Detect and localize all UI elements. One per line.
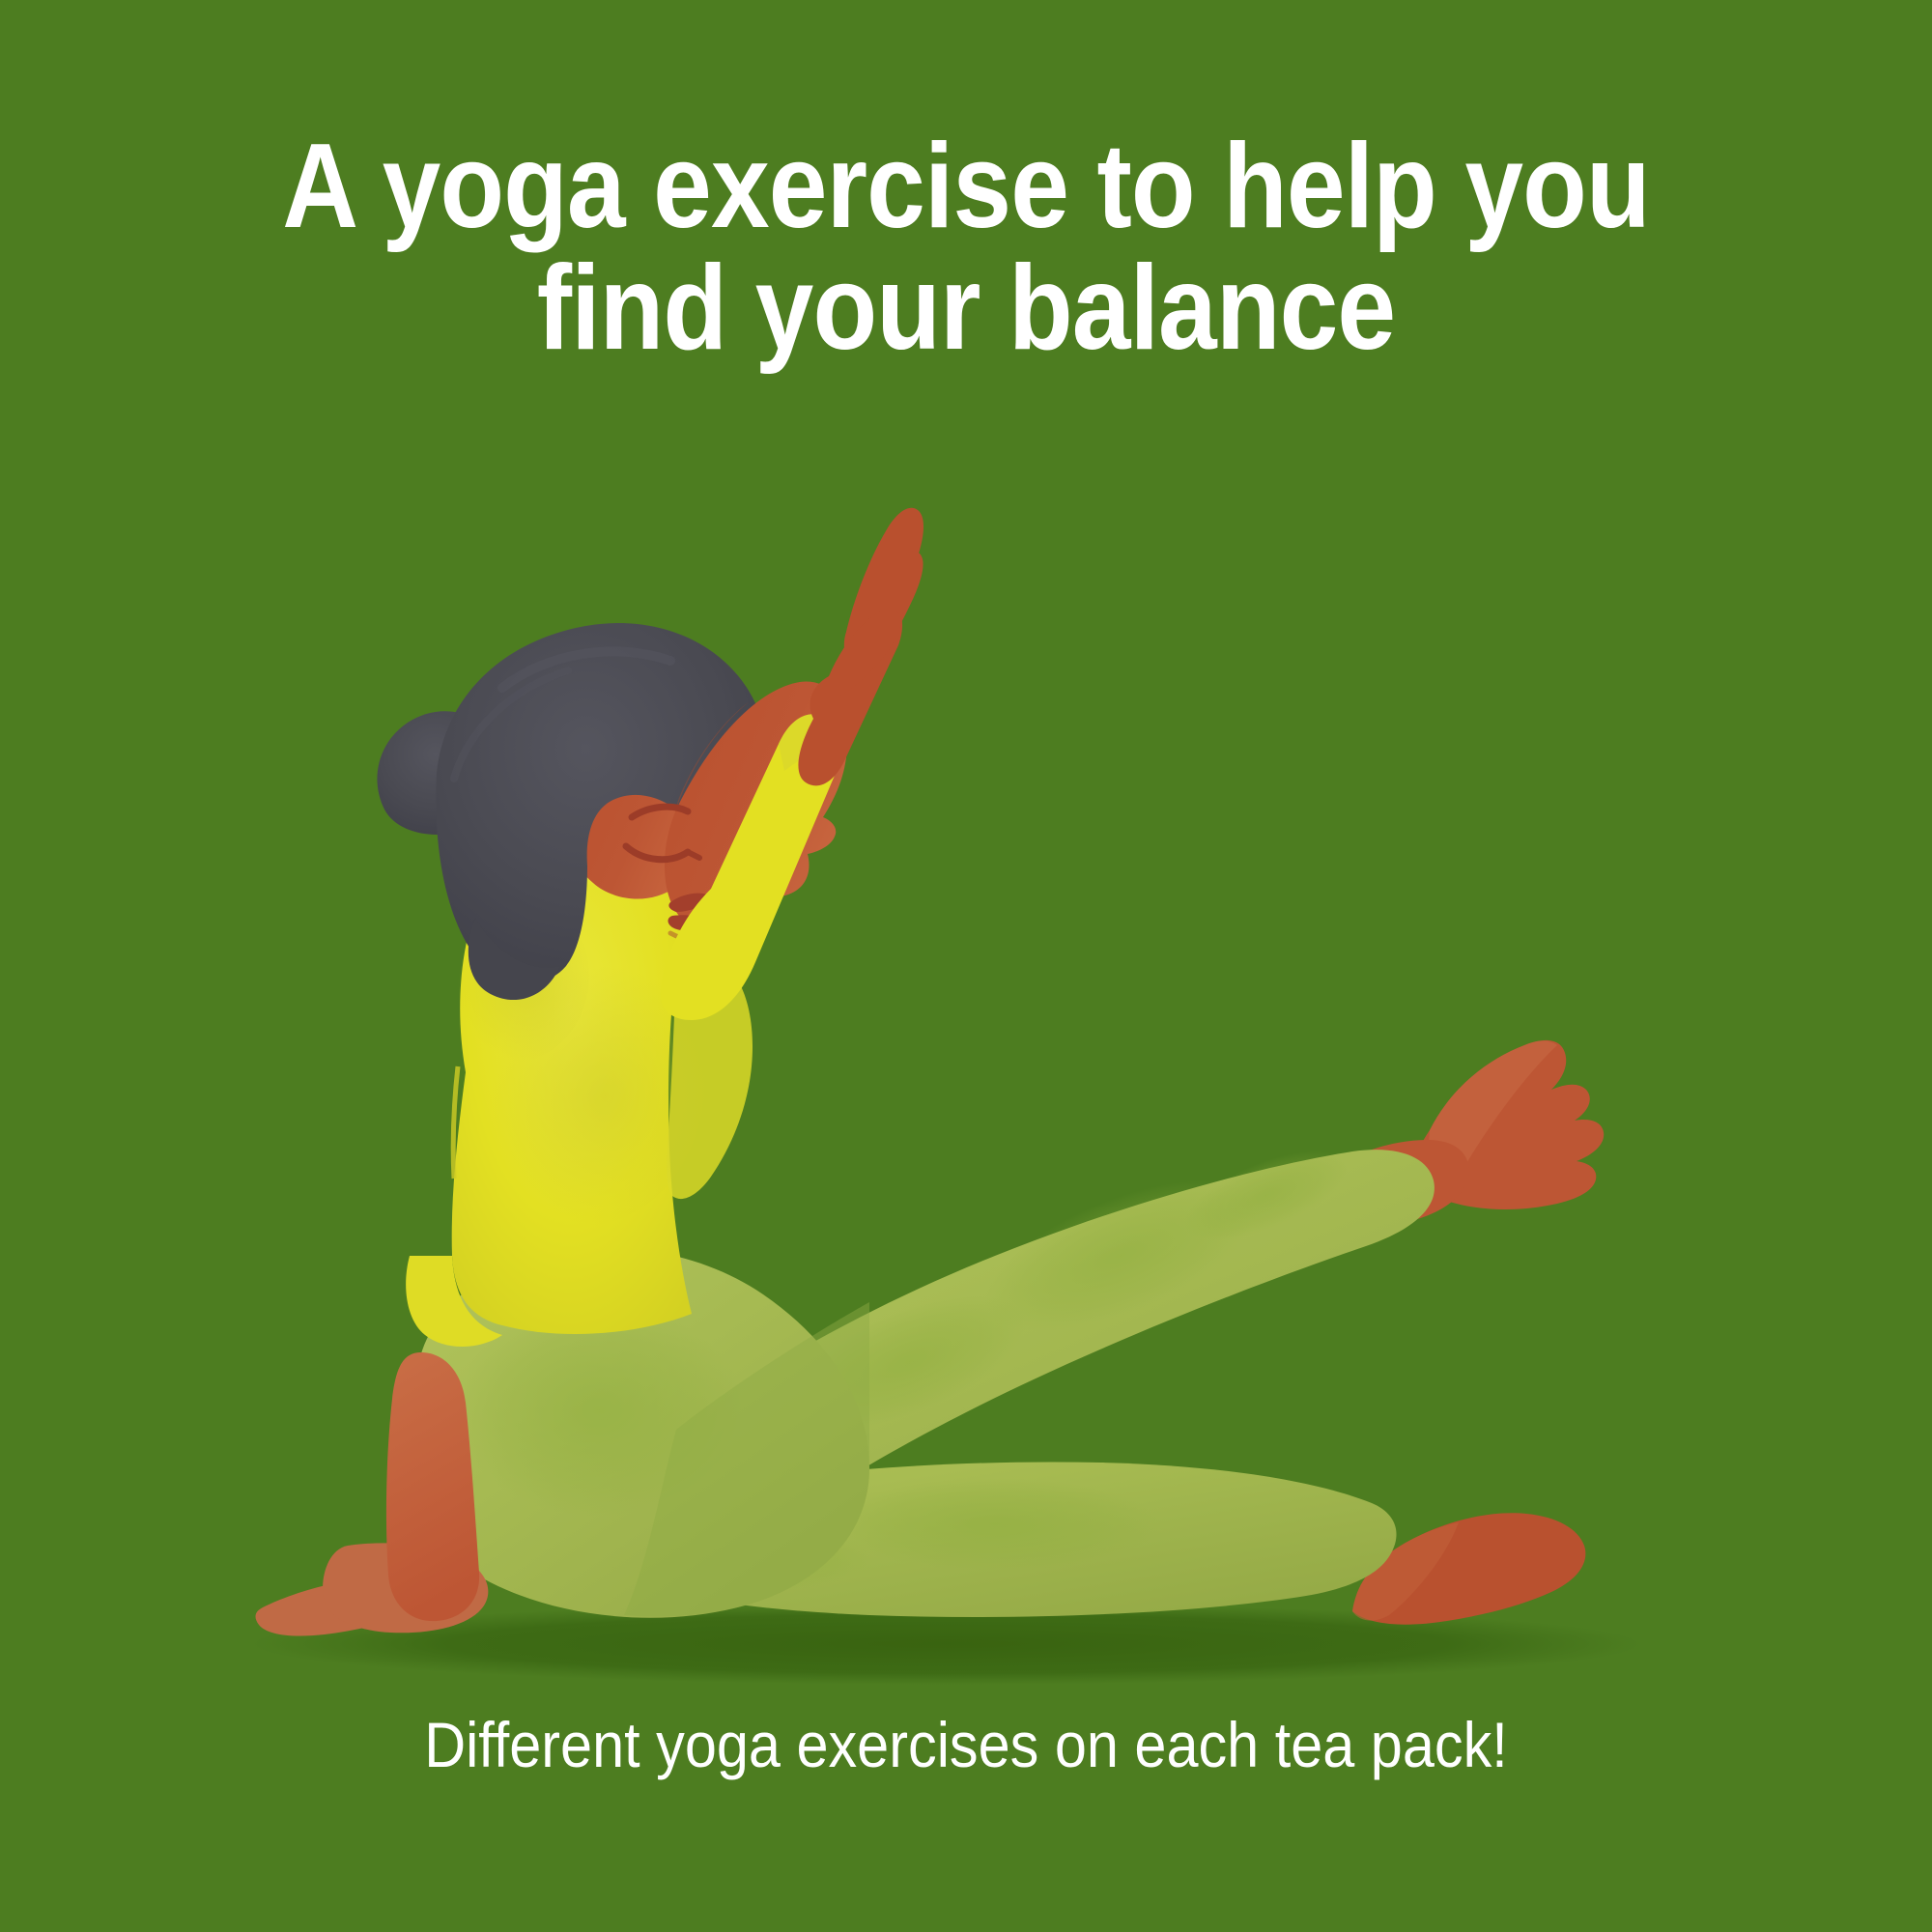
headline-line-1: A yoga exercise to help you [116,126,1816,247]
page-title: A yoga exercise to help you find your ba… [116,126,1816,370]
pants-watercolor-blot-1 [831,1478,1159,1571]
headline-line-2: find your balance [116,247,1816,369]
poster-canvas: A yoga exercise to help you find your ba… [0,0,1932,1932]
subtitle-text: Different yoga exercises on each tea pac… [97,1708,1835,1781]
